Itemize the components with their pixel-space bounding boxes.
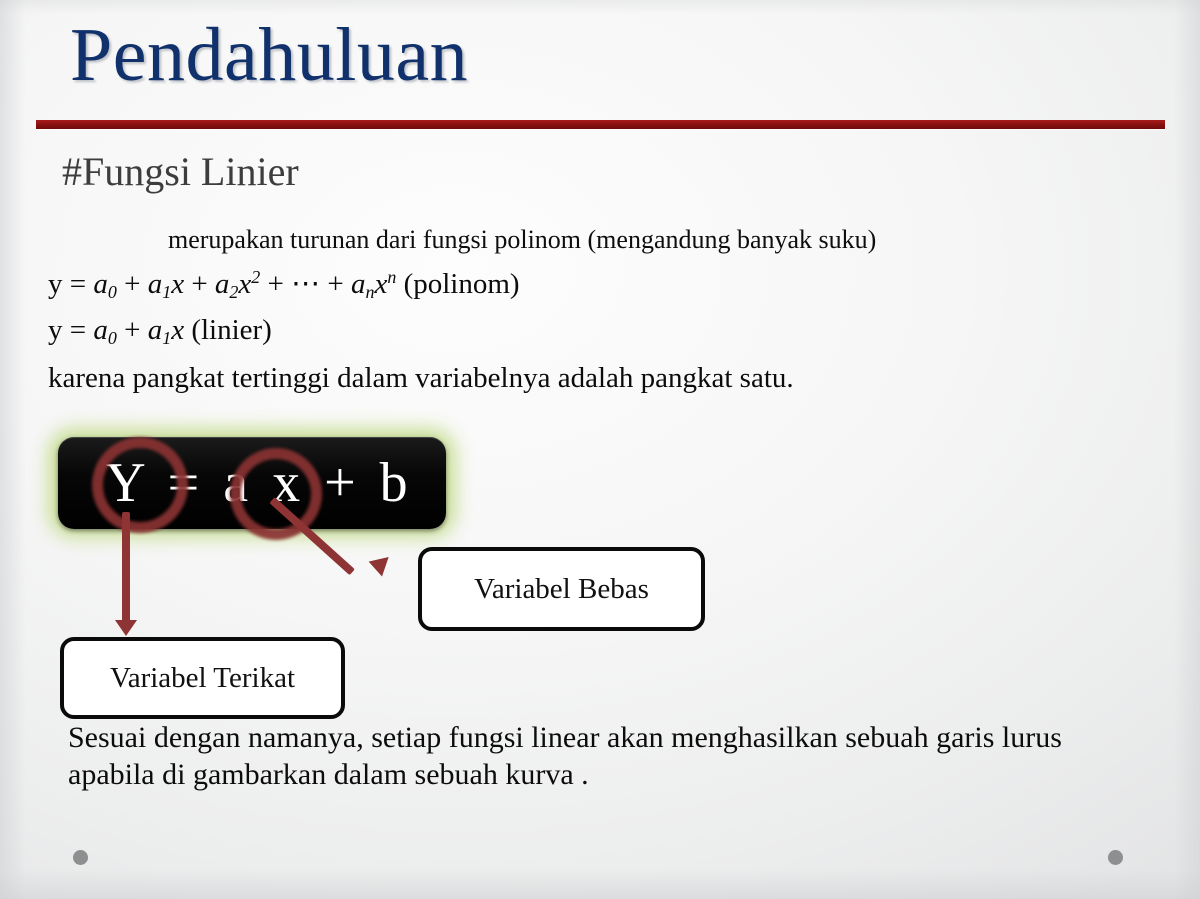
callout-variabel-bebas: Variabel Bebas [418, 547, 705, 631]
equation-polynomial-a1: a [148, 268, 163, 300]
equation-polynomial-plus2: + [184, 268, 215, 300]
title-divider-rule [36, 120, 1165, 129]
closing-paragraph: Sesuai dengan namanya, setiap fungsi lin… [68, 720, 1128, 793]
lead-text: merupakan turunan dari fungsi polinom (m… [168, 225, 876, 255]
equation-linear-x1: x [171, 314, 184, 346]
arrow-shaft-terikat [122, 512, 130, 624]
equation-linear-tag: (linier) [184, 314, 272, 346]
highlight-circle-dependent-variable [92, 437, 188, 533]
arrow-head-terikat [115, 620, 137, 636]
equation-polynomial-x1: x [171, 268, 184, 300]
equation-polynomial-xn-sup: n [387, 267, 396, 287]
equation-polynomial-plus1: + [117, 268, 148, 300]
equation-linear-a1-sub: 1 [162, 328, 171, 348]
equation-polynomial-x2: x [238, 268, 251, 300]
equation-polynomial-xn: x [374, 268, 387, 300]
section-subheading: #Fungsi Linier [62, 148, 299, 195]
equation-linear-a0: a [93, 314, 108, 346]
arrow-head-bebas [369, 550, 396, 577]
footer-dot-right-icon [1108, 850, 1123, 865]
callout-variabel-terikat: Variabel Terikat [60, 637, 345, 719]
equation-linear-a1: a [148, 314, 163, 346]
equation-linear: y = a0 + a1x (linier) [48, 314, 272, 349]
equation-polynomial-ellipsis: + ⋯ + [260, 268, 351, 300]
page-title: Pendahuluan [70, 16, 468, 96]
equation-linear-plus1: + [117, 314, 148, 346]
equation-polynomial-an: a [351, 268, 366, 300]
equation-polynomial: y = a0 + a1x + a2x2 + ⋯ + anxn (polinom) [48, 266, 520, 303]
footer-dot-left-icon [73, 850, 88, 865]
equation-polynomial-x2-sup: 2 [251, 267, 260, 287]
highlight-circle-independent-variable [230, 448, 322, 540]
explanatory-note: karena pangkat tertinggi dalam variabeln… [48, 362, 794, 395]
equation-linear-lhs: y = [48, 314, 93, 346]
equation-polynomial-a1-sub: 1 [162, 282, 171, 302]
equation-polynomial-lhs: y = [48, 268, 93, 300]
equation-linear-a0-sub: 0 [108, 328, 117, 348]
equation-polynomial-a0: a [93, 268, 108, 300]
slide-canvas: Pendahuluan #Fungsi Linier merupakan tur… [0, 0, 1200, 899]
equation-polynomial-a0-sub: 0 [108, 282, 117, 302]
equation-polynomial-a2: a [215, 268, 230, 300]
equation-polynomial-tag: (polinom) [396, 268, 519, 300]
